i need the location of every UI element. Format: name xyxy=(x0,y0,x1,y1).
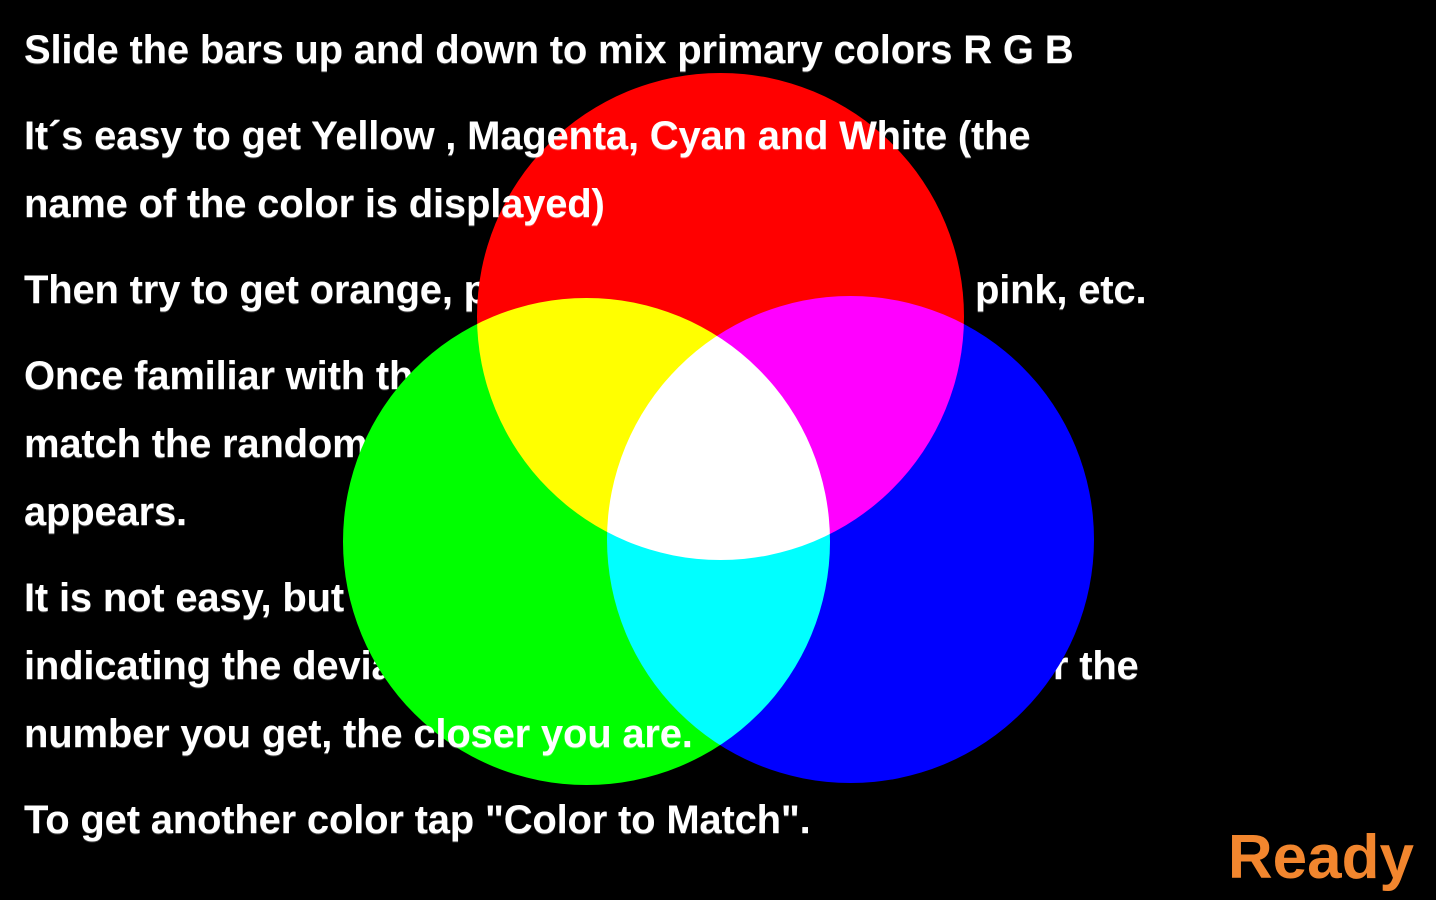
ready-button[interactable]: Ready xyxy=(1228,822,1414,894)
instruction-line-1: Slide the bars up and down to mix primar… xyxy=(24,28,1073,72)
app-screen: Then try to get orange, purple, gray, br… xyxy=(0,0,1436,900)
instruction-line-10: number you get, the closer you are. xyxy=(24,712,693,756)
instruction-line-11: To get another color tap "Color to Match… xyxy=(24,798,811,842)
instruction-line-3: name of the color is displayed) xyxy=(24,182,605,226)
instruction-text-overlay: Slide the bars up and down to mix primar… xyxy=(0,0,1436,900)
instruction-line-2: It´s easy to get Yellow , Magenta, Cyan … xyxy=(24,114,1030,158)
